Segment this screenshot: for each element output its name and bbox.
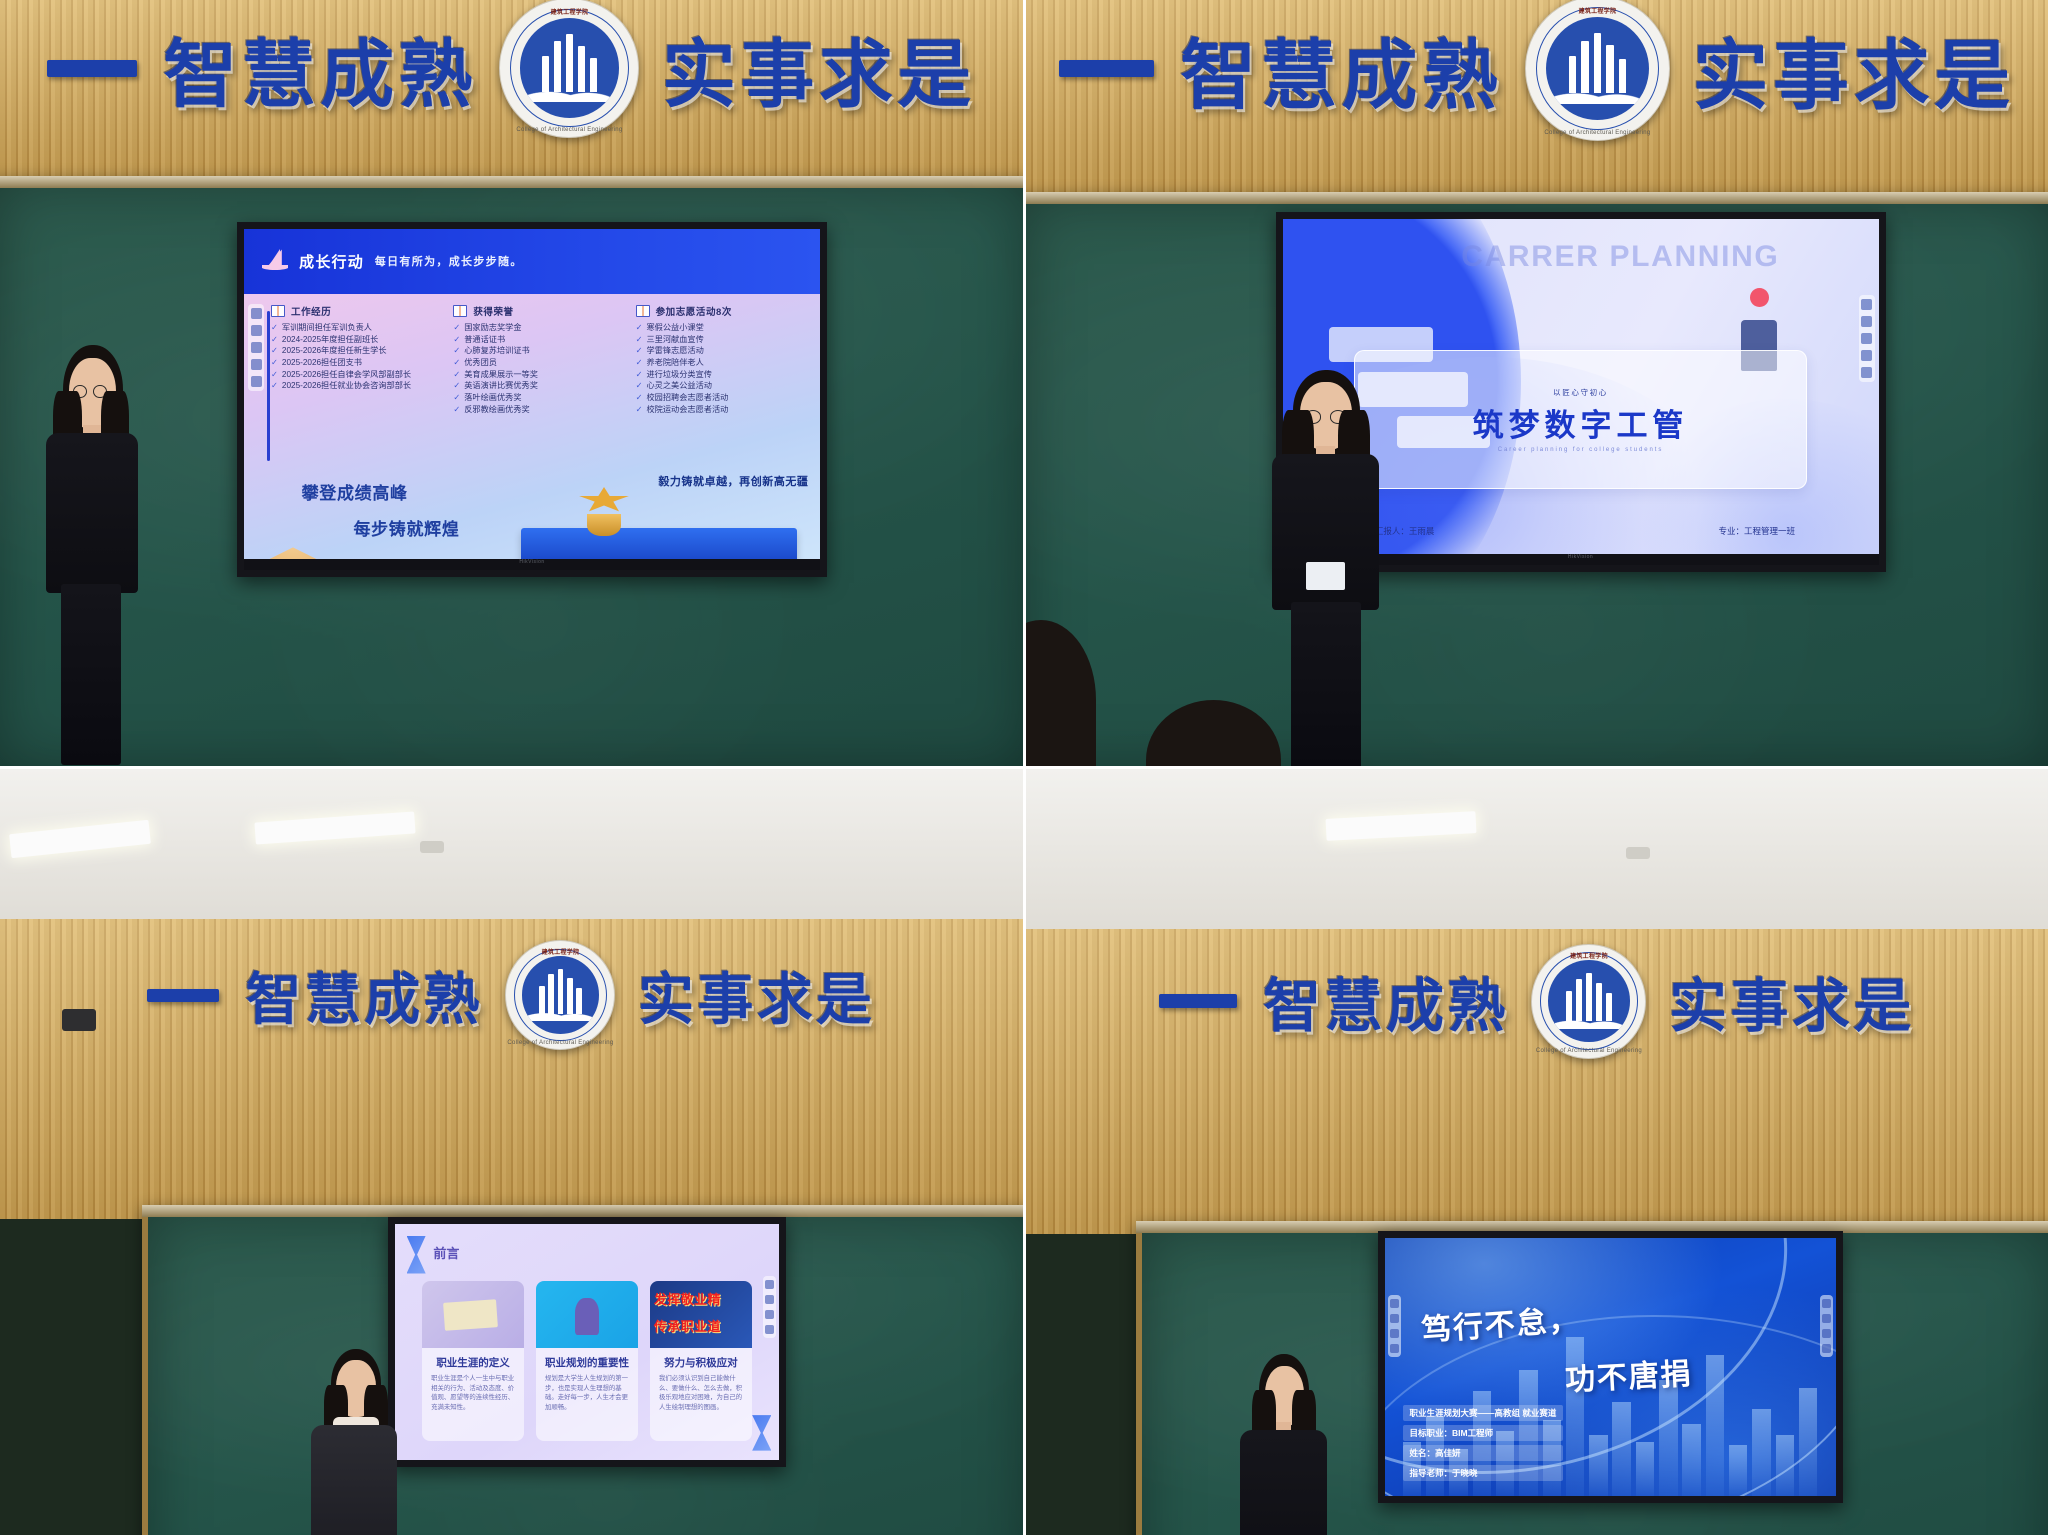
seal-since-text: SINCE 2005	[522, 1016, 600, 1022]
shape-icon[interactable]	[1822, 1329, 1831, 1338]
slide2-sub-top: 以匠心守初心	[1553, 387, 1608, 398]
grid-icon[interactable]	[1822, 1344, 1831, 1353]
seal-top-arc: 建筑工程学院	[1532, 951, 1645, 960]
security-camera-icon	[62, 1009, 96, 1031]
pen-icon[interactable]	[251, 308, 262, 319]
seal-top-arc: 建筑工程学院	[506, 947, 614, 956]
slide1-bottom: 攀登成绩高峰 每步铸就辉煌 毅力铸就卓越，再创新高无疆	[244, 471, 820, 570]
column-title: 参加志愿活动8次	[656, 304, 732, 318]
column-list: ✓国家励志奖学金 ✓普通话证书 ✓心肺复苏培训证书 ✓优秀团员 ✓美育成果展示一…	[453, 322, 626, 415]
list-item: ✓校园招聘会志愿者活动	[636, 392, 809, 404]
seal-top-arc: 建筑工程学院	[1526, 6, 1669, 15]
check-icon: ✓	[636, 357, 643, 369]
card-body: 我们必须认识到自己能做什么、要做什么、怎么去做，积极乐观地应对困难，为自己的人生…	[650, 1374, 752, 1420]
list-item-label: 学雷锋志愿活动	[646, 345, 703, 357]
card-body: 规划是大学生人生规划的第一步，也是实现人生理想的基础。走好每一步，人生才会更加顺…	[536, 1374, 638, 1420]
check-icon: ✓	[271, 357, 278, 369]
card-illustration	[422, 1281, 524, 1348]
card-illustration: 发挥敬业精 传承职业道	[650, 1281, 752, 1348]
eraser-icon[interactable]	[251, 325, 262, 336]
check-icon: ✓	[636, 369, 643, 381]
list-item-label: 落叶绘画优秀奖	[464, 392, 521, 404]
slide1-columns: 工作经历 ✓军训期间担任军训负责人 ✓2024-2025年度担任副班长 ✓202…	[267, 304, 808, 475]
column-title: 工作经历	[291, 304, 331, 318]
card-illustration	[536, 1281, 638, 1348]
list-item: ✓2025-2026年度担任新生学长	[271, 345, 444, 357]
slide1-column-volunteer: 参加志愿活动8次 ✓寒假公益小课堂 ✓三里河献血宣传 ✓学雷锋志愿活动 ✓养老院…	[632, 304, 809, 475]
slide-1-content: 成长行动 每日有所为，成长步步随。 工作经历 ✓军训期间担任军训负责人	[244, 229, 820, 570]
sailboat-icon	[261, 248, 288, 275]
screen-brand-label: HikVision	[244, 559, 820, 570]
shape-icon[interactable]	[251, 342, 262, 353]
shape-icon[interactable]	[1390, 1329, 1399, 1338]
book-icon	[271, 305, 285, 317]
list-item: ✓普通话证书	[453, 334, 626, 346]
slide3-cards: 职业生涯的定义 职业生涯是个人一生中与职业相关的行为、活动及态度、价值观、愿望等…	[422, 1281, 752, 1442]
smartboard-screen-4[interactable]: 笃行不怠， 功不唐捐 职业生涯规划大赛——高教组 就业赛道 目标职业：BIM工程…	[1378, 1231, 1843, 1503]
trousers-shape	[1291, 602, 1361, 766]
banner-top-right: 智慧成熟 建筑工程学院 SINCE 2005 College of Archit…	[1026, 6, 2048, 131]
screen-toolbar-1[interactable]	[248, 304, 264, 391]
seal-since-text: SINCE 2005	[520, 97, 619, 103]
slide4-info-lines: 职业生涯规划大赛——高教组 就业赛道 目标职业：BIM工程师 姓名：高佳妍 指导…	[1403, 1405, 1564, 1481]
slide1-column-work: 工作经历 ✓军训期间担任军训负责人 ✓2024-2025年度担任副班长 ✓202…	[267, 304, 444, 475]
slide1-slogan-right: 毅力铸就卓越，再创新高无疆	[658, 473, 808, 489]
banner-bottom-left: 智慧成熟 建筑工程学院 SINCE 2005 College of Archit…	[0, 947, 1023, 1043]
banner-left-text: 智慧成熟	[163, 15, 477, 122]
slide-4-content: 笃行不怠， 功不唐捐 职业生涯规划大赛——高教组 就业赛道 目标职业：BIM工程…	[1385, 1238, 1836, 1496]
book-icon	[453, 305, 467, 317]
column-header: 获得荣誉	[453, 304, 626, 318]
star-shape	[578, 487, 630, 513]
wood-wall-bottom-right: 智慧成熟 建筑工程学院 SINCE 2005 College of Archit…	[1026, 929, 2048, 1234]
column-list: ✓军训期间担任军训负责人 ✓2024-2025年度担任副班长 ✓2025-202…	[271, 322, 444, 392]
coat-shape	[311, 1425, 397, 1535]
list-item: ✓2025-2026担任团支书	[271, 357, 444, 369]
pedestal-shape	[521, 528, 797, 562]
card-image-caption-line1: 发挥敬业精	[654, 1289, 752, 1308]
column-list: ✓寒假公益小课堂 ✓三里河献血宣传 ✓学雷锋志愿活动 ✓养老院陪伴老人 ✓进行垃…	[636, 322, 809, 415]
list-item-label: 心肺复苏培训证书	[464, 345, 530, 357]
list-item: ✓美育成果展示一等奖	[453, 369, 626, 381]
trousers-shape	[61, 584, 121, 765]
college-seal-icon: 建筑工程学院 SINCE 2005 College of Architectur…	[1525, 0, 1670, 141]
slide3-section-label: 前言	[433, 1243, 459, 1262]
list-item-label: 校院运动会志愿者活动	[646, 404, 728, 416]
check-icon: ✓	[271, 322, 278, 334]
panel-top-right: 智慧成熟 建筑工程学院 SINCE 2005 College of Archit…	[1026, 0, 2048, 766]
seal-bottom-arc: College of Architectural Engineering	[1526, 130, 1669, 136]
slide4-info-line: 指导老师：于晓晓	[1403, 1465, 1564, 1481]
slide2-title-card: 以匠心守初心 筑梦数字工管 Career planning for colleg…	[1354, 350, 1807, 488]
college-seal-icon: 建筑工程学院 SINCE 2005 College of Architectur…	[505, 940, 615, 1050]
wood-wall-top-left: 智慧成熟 建筑工程学院 SINCE 2005 College of Archit…	[0, 0, 1023, 185]
list-item: ✓国家励志奖学金	[453, 322, 626, 334]
book-icon	[636, 305, 650, 317]
screen-toolbar-4-left[interactable]	[1388, 1295, 1401, 1357]
card-title: 职业生涯的定义	[422, 1348, 524, 1374]
check-icon: ✓	[636, 322, 643, 334]
seal-disc: SINCE 2005	[520, 18, 619, 117]
college-seal-icon: 建筑工程学院 SINCE 2005 College of Architectur…	[499, 0, 639, 138]
seal-bottom-arc: College of Architectural Engineering	[506, 1040, 614, 1046]
list-item: ✓学雷锋志愿活动	[636, 345, 809, 357]
list-item-label: 军训期间担任军训负责人	[282, 322, 372, 334]
grid-icon[interactable]	[765, 1325, 774, 1334]
list-item-label: 2025-2026年度担任新生学长	[282, 345, 387, 357]
check-icon: ✓	[636, 380, 643, 392]
list-item-label: 寒假公益小课堂	[646, 322, 703, 334]
list-item-label: 心灵之美公益活动	[646, 380, 712, 392]
screen-toolbar-4-right[interactable]	[1820, 1295, 1833, 1357]
slide2-major: 专业：工程管理一班	[1719, 525, 1796, 537]
check-icon: ✓	[453, 322, 460, 334]
cup-shape	[587, 514, 620, 537]
check-icon: ✓	[453, 380, 460, 392]
check-icon: ✓	[271, 345, 278, 357]
check-icon: ✓	[453, 369, 460, 381]
list-item: ✓校院运动会志愿者活动	[636, 404, 809, 416]
banner-right-text: 实事求是	[1669, 959, 1915, 1043]
column-header: 工作经历	[271, 304, 444, 318]
list-item: ✓英语演讲比赛优秀奖	[453, 380, 626, 392]
presenter-4	[1226, 1354, 1341, 1535]
slide2-sub-en: Career planning for college students	[1498, 447, 1664, 453]
banner-dash-icon	[1159, 994, 1237, 1008]
presenter-2	[1256, 370, 1396, 766]
slide1-slogan-line1: 攀登成绩高峰	[302, 479, 408, 504]
list-item-label: 英语演讲比赛优秀奖	[464, 380, 538, 392]
list-item-label: 进行垃圾分类宣传	[646, 369, 712, 381]
jacket-shape	[1240, 1430, 1326, 1535]
list-item: ✓心灵之美公益活动	[636, 380, 809, 392]
card-title: 职业规划的重要性	[536, 1348, 638, 1374]
slide2-ghost-title: CARRER PLANNING	[1461, 240, 1848, 274]
slide4-info-line: 姓名：高佳妍	[1403, 1445, 1564, 1461]
check-icon: ✓	[453, 404, 460, 416]
list-item: ✓进行垃圾分类宣传	[636, 369, 809, 381]
slide2-big-title: 筑梦数字工管	[1473, 400, 1689, 445]
banner-right-text: 实事求是	[638, 955, 875, 1036]
column-header: 参加志愿活动8次	[636, 304, 809, 318]
slide3-card: 职业生涯的定义 职业生涯是个人一生中与职业相关的行为、活动及态度、价值观、愿望等…	[422, 1281, 524, 1442]
banner-left-text: 智慧成熟	[246, 955, 483, 1036]
smartboard-screen-3[interactable]: 前言 职业生涯的定义 职业生涯是个人一生中与职业相关的行为、活动及态度、价值观、…	[388, 1217, 786, 1467]
seal-bottom-arc: College of Architectural Engineering	[500, 127, 638, 133]
list-item: ✓心肺复苏培训证书	[453, 345, 626, 357]
list-item-label: 2025-2026担任就业协会咨询部部长	[282, 380, 411, 392]
layers-icon[interactable]	[251, 376, 262, 387]
seal-disc: SINCE 2005	[1546, 17, 1649, 120]
presenter-1	[28, 345, 153, 765]
slide1-column-honors: 获得荣誉 ✓国家励志奖学金 ✓普通话证书 ✓心肺复苏培训证书 ✓优秀团员 ✓美育…	[449, 304, 626, 475]
check-icon: ✓	[271, 334, 278, 346]
eraser-icon[interactable]	[1822, 1314, 1831, 1323]
sail-shape	[268, 249, 282, 266]
check-icon: ✓	[636, 345, 643, 357]
slide-3: 前言 职业生涯的定义 职业生涯是个人一生中与职业相关的行为、活动及态度、价值观、…	[395, 1224, 779, 1460]
slide4-info-line: 目标职业：BIM工程师	[1403, 1425, 1564, 1441]
check-icon: ✓	[453, 345, 460, 357]
slide1-slogan-line2: 每步铸就辉煌	[353, 515, 459, 540]
banner-bottom-right: 智慧成熟 建筑工程学院 SINCE 2005 College of Archit…	[1026, 951, 2048, 1051]
list-item-label: 反邪教绘画优秀奖	[464, 404, 530, 416]
seal-since-text: SINCE 2005	[1546, 99, 1649, 105]
column-accent-bar	[267, 311, 270, 461]
slide4-calligraphy-line2: 功不唐捐	[1564, 1348, 1693, 1399]
panel-bottom-left: 智慧成熟 建筑工程学院 SINCE 2005 College of Archit…	[0, 769, 1023, 1535]
pen-icon[interactable]	[1390, 1299, 1399, 1308]
panel-top-left: 智慧成熟 建筑工程学院 SINCE 2005 College of Archit…	[0, 0, 1023, 766]
decor-corner-icon	[407, 1236, 426, 1274]
screenshot-collage: 智慧成熟 建筑工程学院 SINCE 2005 College of Archit…	[0, 0, 2048, 1535]
check-icon: ✓	[453, 334, 460, 346]
slide1-header-subtitle: 每日有所为，成长步步随。	[375, 253, 523, 269]
list-item-label: 国家励志奖学金	[464, 322, 521, 334]
eraser-icon[interactable]	[1861, 316, 1872, 327]
smoke-detector-icon	[420, 841, 444, 853]
card-title: 努力与积极应对	[650, 1348, 752, 1374]
smartboard-screen-1[interactable]: 成长行动 每日有所为，成长步步随。 工作经历 ✓军训期间担任军训负责人	[237, 222, 827, 577]
slide1-header: 成长行动 每日有所为，成长步步随。	[244, 229, 820, 294]
slide1-header-title: 成长行动	[299, 251, 364, 272]
list-item: ✓2024-2025年度担任副班长	[271, 334, 444, 346]
list-item: ✓三里河献血宣传	[636, 334, 809, 346]
list-item: ✓养老院陪伴老人	[636, 357, 809, 369]
check-icon: ✓	[271, 369, 278, 381]
grid-icon[interactable]	[251, 359, 262, 370]
wood-wall-bottom-left: 智慧成熟 建筑工程学院 SINCE 2005 College of Archit…	[0, 919, 1023, 1219]
list-item-label: 2025-2026担任自律会学风部副部长	[282, 369, 411, 381]
banner-top-left: 智慧成熟 建筑工程学院 SINCE 2005 College of Archit…	[0, 8, 1023, 128]
pen-icon[interactable]	[1822, 1299, 1831, 1308]
eraser-icon[interactable]	[1390, 1314, 1399, 1323]
check-icon: ✓	[636, 404, 643, 416]
shape-icon[interactable]	[1861, 333, 1872, 344]
slide-3-content: 前言 职业生涯的定义 职业生涯是个人一生中与职业相关的行为、活动及态度、价值观、…	[395, 1224, 779, 1460]
slide2-meta: ◆ 汇报人：王雨晨 专业：工程管理一班	[1366, 525, 1795, 537]
banner-dash-icon	[1059, 60, 1154, 77]
list-item: ✓落叶绘画优秀奖	[453, 392, 626, 404]
banner-left-text: 智慧成熟	[1180, 14, 1502, 124]
slide3-card: 职业规划的重要性 规划是大学生人生规划的第一步，也是实现人生理想的基础。走好每一…	[536, 1281, 638, 1442]
hull-shape	[262, 265, 288, 270]
grid-icon[interactable]	[1390, 1344, 1399, 1353]
list-item: ✓寒假公益小课堂	[636, 322, 809, 334]
seal-since-text: SINCE 2005	[1548, 1023, 1629, 1029]
slide-4: 笃行不怠， 功不唐捐 职业生涯规划大赛——高教组 就业赛道 目标职业：BIM工程…	[1385, 1238, 1836, 1496]
list-item: ✓优秀团员	[453, 357, 626, 369]
list-item: ✓军训期间担任军训负责人	[271, 322, 444, 334]
list-item-label: 美育成果展示一等奖	[464, 369, 538, 381]
illustration-head	[1750, 288, 1769, 307]
list-item: ✓反邪教绘画优秀奖	[453, 404, 626, 416]
grid-icon[interactable]	[1861, 350, 1872, 361]
presenter-3	[300, 1349, 410, 1535]
list-item-label: 2025-2026担任团支书	[282, 357, 362, 369]
screen-toolbar-3[interactable]	[763, 1276, 776, 1338]
check-icon: ✓	[453, 392, 460, 404]
list-item-label: 三里河献血宣传	[646, 334, 703, 346]
seal-bottom-arc: College of Architectural Engineering	[1532, 1048, 1645, 1054]
check-icon: ✓	[636, 334, 643, 346]
list-item-label: 2024-2025年度担任副班长	[282, 334, 378, 346]
wood-wall-top-right: 智慧成熟 建筑工程学院 SINCE 2005 College of Archit…	[1026, 0, 2048, 200]
pen-icon[interactable]	[1861, 299, 1872, 310]
slide3-card: 发挥敬业精 传承职业道 努力与积极应对 我们必须认识到自己能做什么、要做什么、怎…	[650, 1281, 752, 1442]
smoke-detector-icon	[1626, 847, 1650, 859]
banner-dash-icon	[47, 60, 137, 77]
card-image-caption-line2: 传承职业道	[654, 1316, 752, 1335]
screen-toolbar-2[interactable]	[1859, 295, 1875, 382]
banner-right-text: 实事求是	[662, 15, 976, 122]
list-item: ✓2025-2026担任就业协会咨询部部长	[271, 380, 444, 392]
check-icon: ✓	[271, 380, 278, 392]
check-icon: ✓	[636, 392, 643, 404]
shape-icon[interactable]	[765, 1310, 774, 1319]
seal-disc: SINCE 2005	[1548, 960, 1629, 1041]
trophy-icon	[578, 487, 630, 536]
list-item-label: 养老院陪伴老人	[646, 357, 703, 369]
jacket-shape	[46, 433, 139, 593]
card-body: 职业生涯是个人一生中与职业相关的行为、活动及态度、价值观、愿望等的连续性经历、充…	[422, 1374, 524, 1420]
list-item: ✓2025-2026担任自律会学风部副部长	[271, 369, 444, 381]
list-item-label: 普通话证书	[464, 334, 505, 346]
banner-dash-icon	[147, 989, 219, 1002]
note-cards	[1306, 562, 1345, 590]
list-item-label: 优秀团员	[464, 357, 497, 369]
pen-icon[interactable]	[765, 1280, 774, 1289]
ceiling-bottom-right	[1026, 769, 2048, 944]
eraser-icon[interactable]	[765, 1295, 774, 1304]
list-item-label: 校园招聘会志愿者活动	[646, 392, 728, 404]
column-title: 获得荣誉	[473, 304, 513, 318]
slide-1: 成长行动 每日有所为，成长步步随。 工作经历 ✓军训期间担任军训负责人	[244, 229, 820, 570]
panel-bottom-right: 智慧成熟 建筑工程学院 SINCE 2005 College of Archit…	[1026, 769, 2048, 1535]
layers-icon[interactable]	[1861, 367, 1872, 378]
check-icon: ✓	[453, 357, 460, 369]
decor-corner-icon	[752, 1415, 771, 1450]
banner-left-text: 智慧成熟	[1263, 959, 1509, 1043]
seal-top-arc: 建筑工程学院	[500, 7, 638, 16]
slide4-info-line: 职业生涯规划大赛——高教组 就业赛道	[1403, 1405, 1564, 1421]
ceiling-bottom-left	[0, 769, 1023, 934]
banner-right-text: 实事求是	[1692, 14, 2014, 124]
seal-disc: SINCE 2005	[522, 956, 600, 1034]
college-seal-icon: 建筑工程学院 SINCE 2005 College of Architectur…	[1531, 944, 1646, 1059]
